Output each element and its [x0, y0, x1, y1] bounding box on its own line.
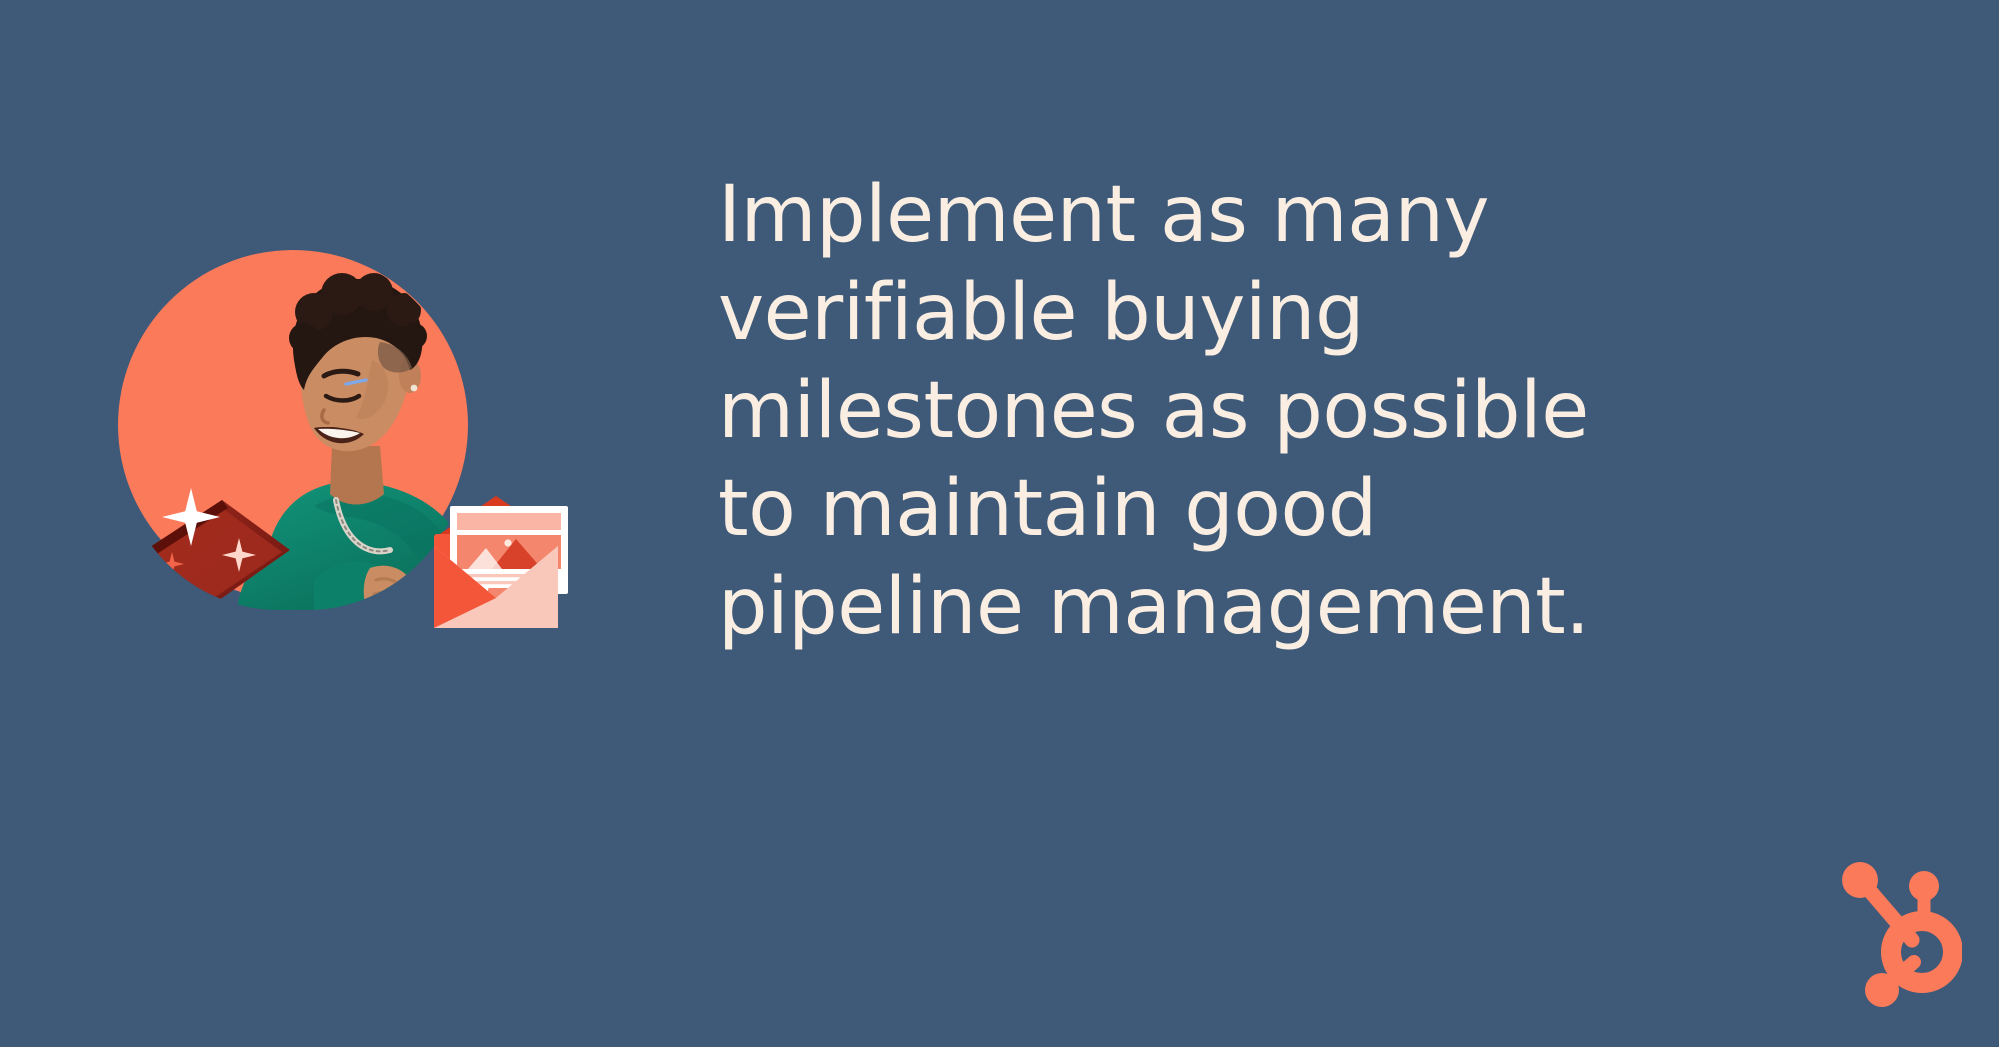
headline-line-4: to maintain good: [718, 460, 1728, 558]
headline-line-5: pipeline management.: [718, 558, 1728, 656]
headline-line-3: milestones as possible: [718, 362, 1728, 460]
headline-line-2: verifiable buying: [718, 264, 1728, 362]
hubspot-sprocket-logo: [1838, 862, 1962, 1014]
headline-line-1: Implement as many: [718, 166, 1728, 264]
headline-text: Implement as many verifiable buying mile…: [718, 166, 1728, 656]
slide-canvas: Implement as many verifiable buying mile…: [0, 0, 1999, 1047]
email-envelope-icon: [416, 494, 576, 630]
hero-visual: [112, 244, 472, 616]
